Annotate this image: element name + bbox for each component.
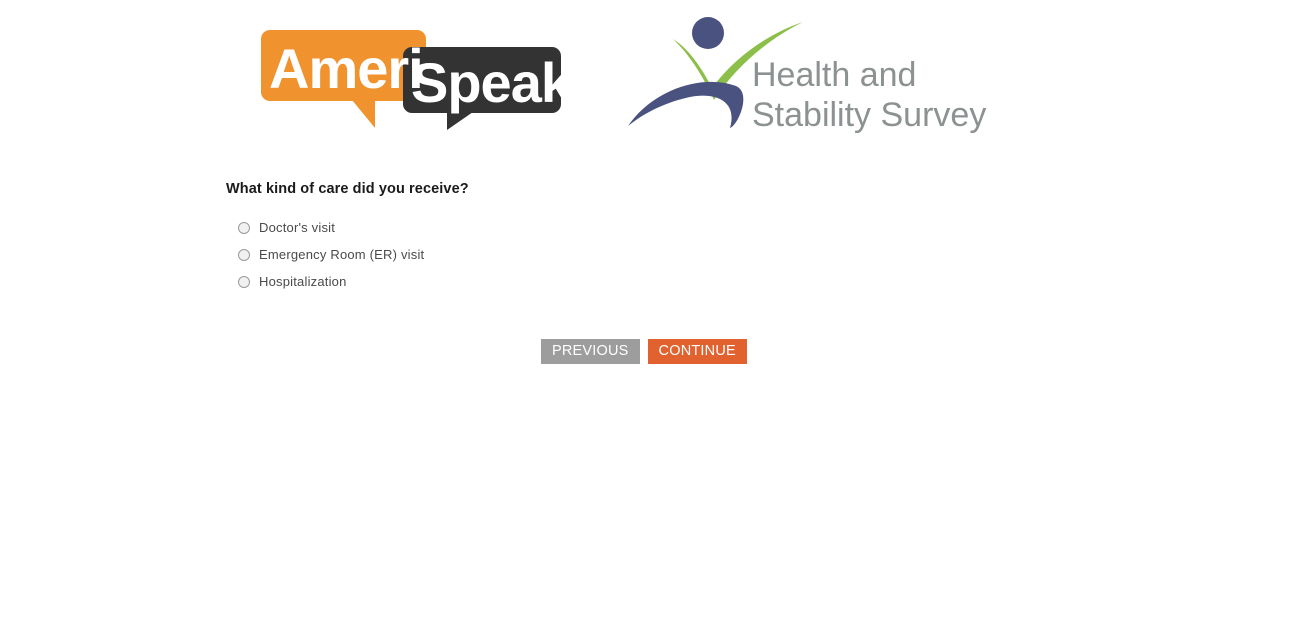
- figure-arc-icon: [628, 82, 743, 128]
- answer-options-list: Doctor's visit Emergency Room (ER) visit…: [226, 214, 1126, 295]
- radio-button-doctors-visit[interactable]: [238, 222, 250, 234]
- amerispeak-logo: Ameri Speak: [255, 18, 575, 140]
- survey-question-block: What kind of care did you receive? Docto…: [226, 180, 1126, 295]
- previous-button[interactable]: PREVIOUS: [541, 339, 640, 364]
- answer-label-doctors-visit: Doctor's visit: [259, 220, 335, 236]
- answer-option-hospitalization[interactable]: Hospitalization: [226, 268, 1126, 295]
- amerispeak-word-speak: Speak: [411, 51, 573, 114]
- question-text: What kind of care did you receive?: [226, 180, 1126, 198]
- answer-option-doctors-visit[interactable]: Doctor's visit: [226, 214, 1126, 241]
- radio-button-hospitalization[interactable]: [238, 276, 250, 288]
- header-logo-band: Ameri Speak Health and Stability Survey: [0, 0, 1300, 145]
- answer-option-er-visit[interactable]: Emergency Room (ER) visit: [226, 241, 1126, 268]
- amerispeak-word-ameri: Ameri: [269, 37, 423, 100]
- figure-head-icon: [692, 17, 724, 49]
- hss-line-two: Stability Survey: [752, 96, 986, 134]
- answer-label-hospitalization: Hospitalization: [259, 274, 347, 290]
- navigation-button-group: PREVIOUS CONTINUE: [541, 339, 747, 364]
- health-and-stability-survey-logo: Health and Stability Survey: [618, 8, 1038, 140]
- answer-label-er-visit: Emergency Room (ER) visit: [259, 247, 424, 263]
- hss-line-one: Health and: [752, 56, 916, 94]
- continue-button[interactable]: CONTINUE: [648, 339, 747, 364]
- radio-button-er-visit[interactable]: [238, 249, 250, 261]
